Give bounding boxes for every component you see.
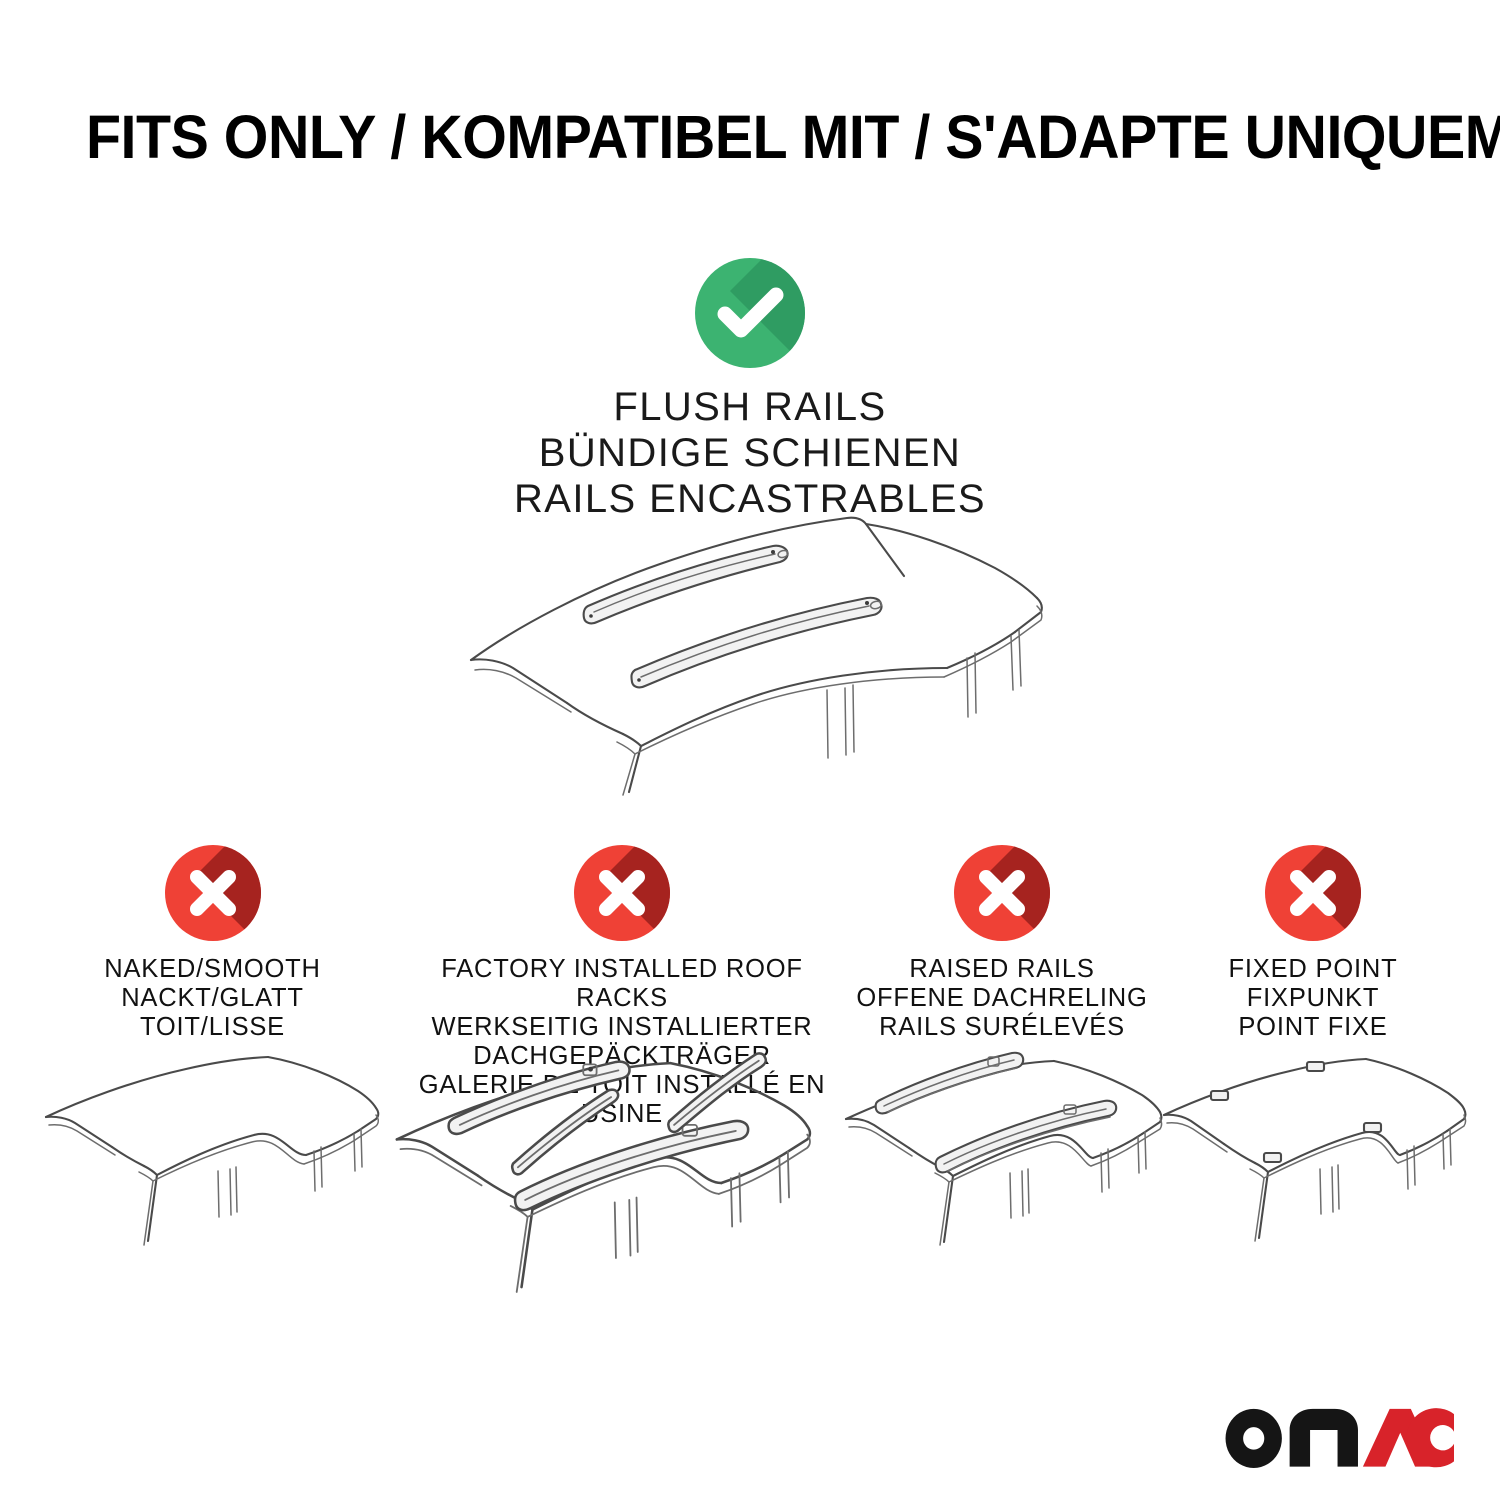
- car-roof-with-flush-rails-illustration: [455, 490, 1055, 800]
- omac-logo: [1222, 1406, 1455, 1468]
- option-label-raised-rails: RAISED RAILS OFFENE DACHRELING RAILS SUR…: [842, 955, 1162, 1042]
- option-label-naked: NAKED/SMOOTH NACKT/GLATT TOIT/LISSE: [40, 955, 385, 1042]
- car-roof-raised-rails-illustration: [842, 1045, 1162, 1260]
- approved-label-line-2: BÜNDIGE SCHIENEN: [0, 430, 1500, 476]
- x-mark-glyph: [165, 845, 261, 941]
- option-label-line-3: RAILS SURÉLEVÉS: [842, 1013, 1162, 1042]
- x-circle-icon-wrap-naked: [40, 845, 385, 941]
- car-roof-naked-smooth-illustration: [40, 1045, 385, 1260]
- option-label-line-1: RAISED RAILS: [842, 955, 1162, 984]
- not-compatible-section: NAKED/SMOOTH NACKT/GLATT TOIT/LISSE: [0, 845, 1500, 1305]
- option-label-line-2: OFFENE DACHRELING: [842, 984, 1162, 1013]
- x-circle-icon: [1265, 845, 1361, 941]
- option-label-line-3: POINT FIXE: [1160, 1013, 1466, 1042]
- fitment-option-factory-racks: FACTORY INSTALLED ROOF RACKS WERKSEITIG …: [392, 845, 852, 1129]
- x-mark-glyph: [574, 845, 670, 941]
- x-circle-icon-wrap-factory: [392, 845, 852, 941]
- fitment-option-raised-rails: RAISED RAILS OFFENE DACHRELING RAILS SUR…: [842, 845, 1162, 1042]
- approved-label-line-1: FLUSH RAILS: [0, 384, 1500, 430]
- check-mark-glyph: [695, 258, 805, 368]
- x-circle-icon: [165, 845, 261, 941]
- option-label-line-1: FIXED POINT: [1160, 955, 1466, 984]
- check-circle-icon-wrap: [695, 258, 805, 368]
- check-circle-icon: [695, 258, 805, 368]
- logo-letter-o: [1225, 1409, 1281, 1468]
- x-circle-icon-wrap-raised: [842, 845, 1162, 941]
- x-circle-icon: [954, 845, 1050, 941]
- page-title: FITS ONLY / KOMPATIBEL MIT / S'ADAPTE UN…: [86, 104, 1346, 170]
- x-circle-icon: [574, 845, 670, 941]
- logo-letter-m: [1289, 1409, 1357, 1467]
- x-circle-icon-wrap-fixed: [1160, 845, 1466, 941]
- fitment-option-fixed-point: FIXED POINT FIXPUNKT POINT FIXE: [1160, 845, 1466, 1042]
- option-label-line-1: NAKED/SMOOTH: [40, 955, 385, 984]
- option-label-line-1: FACTORY INSTALLED ROOF RACKS: [392, 955, 852, 1013]
- car-roof-fixed-point-illustration: [1160, 1045, 1466, 1260]
- fitment-infographic: FITS ONLY / KOMPATIBEL MIT / S'ADAPTE UN…: [0, 0, 1500, 1500]
- fitment-option-naked: NAKED/SMOOTH NACKT/GLATT TOIT/LISSE: [40, 845, 385, 1042]
- option-label-line-2: NACKT/GLATT: [40, 984, 385, 1013]
- option-label-line-2: WERKSEITIG INSTALLIERTER: [392, 1013, 852, 1042]
- option-label-line-2: FIXPUNKT: [1160, 984, 1466, 1013]
- option-label-fixed-point: FIXED POINT FIXPUNKT POINT FIXE: [1160, 955, 1466, 1042]
- car-roof-factory-installed-roof-racks-illustration: [392, 1045, 852, 1305]
- approved-section: FLUSH RAILS BÜNDIGE SCHIENEN RAILS ENCAS…: [0, 258, 1500, 522]
- x-mark-glyph: [1265, 845, 1361, 941]
- option-label-line-3: TOIT/LISSE: [40, 1013, 385, 1042]
- x-mark-glyph: [954, 845, 1050, 941]
